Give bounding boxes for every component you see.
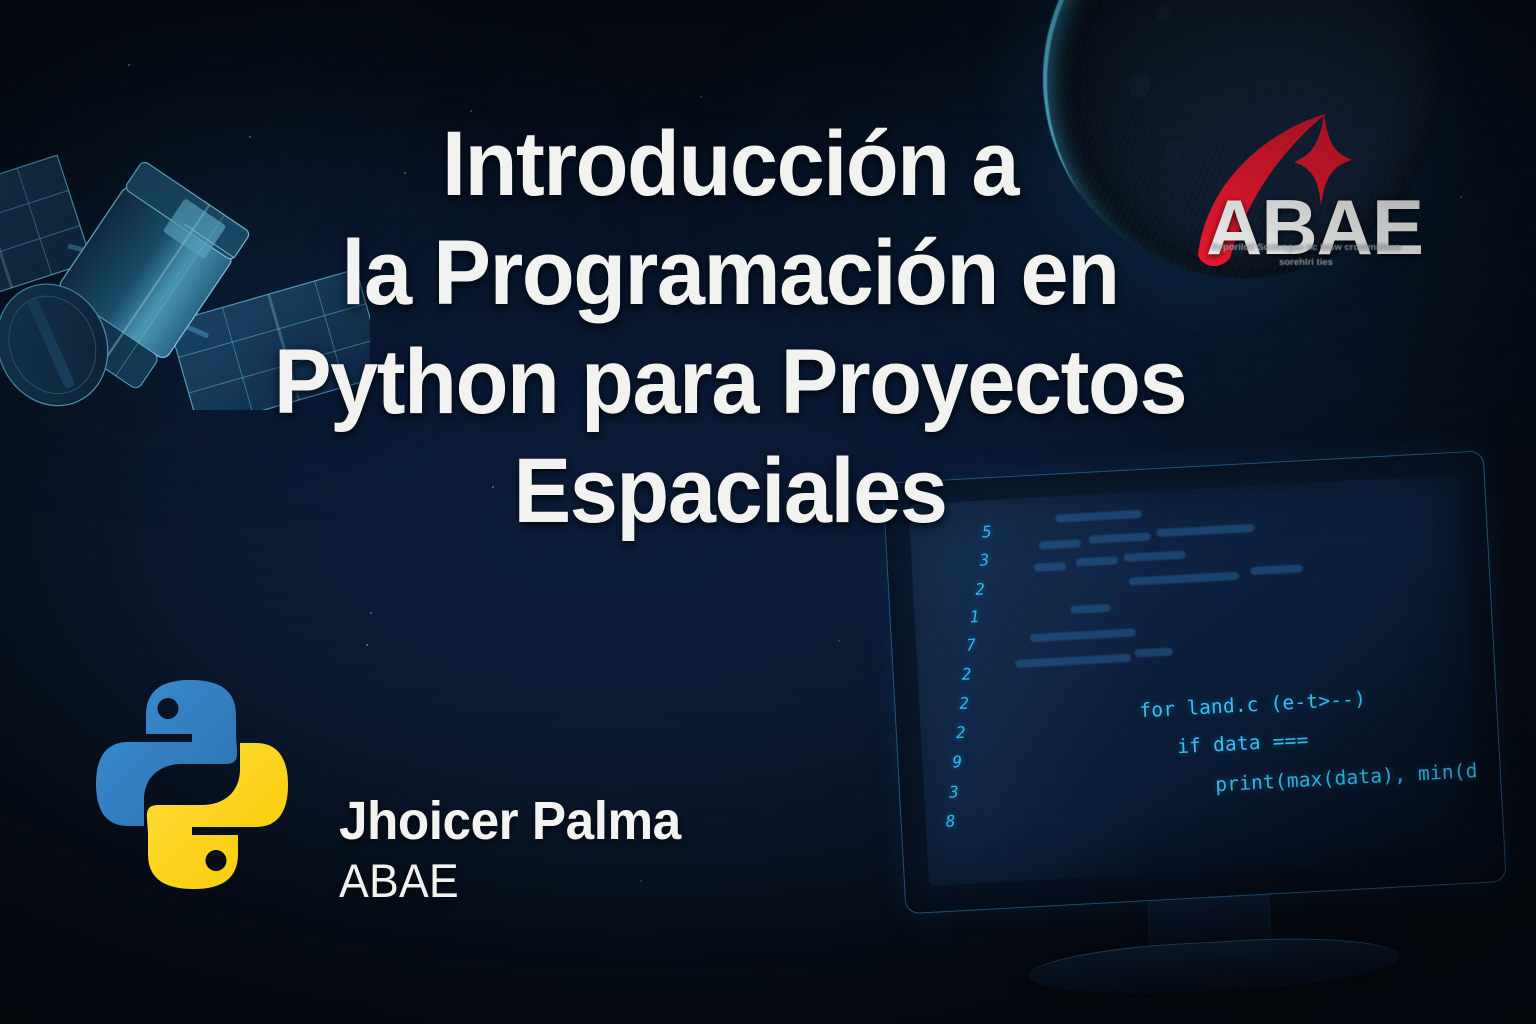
title-line: Espaciales — [44, 437, 1416, 546]
presenter-organization: ABAE — [339, 852, 681, 910]
presentation-title-slide: ABAE Avporiloll Somroges nc tusw crouimi… — [0, 0, 1536, 1024]
python-logo-icon — [86, 672, 298, 897]
presenter-name: Jhoicer Palma — [339, 790, 681, 852]
presenter-block: Jhoicer Palma ABAE — [339, 790, 699, 910]
title-line: la Programación en — [44, 219, 1416, 328]
title-line: Python para Proyectos — [44, 328, 1416, 437]
page-title: Introducción a la Programación en Python… — [44, 110, 1416, 546]
title-line: Introducción a — [44, 110, 1416, 219]
